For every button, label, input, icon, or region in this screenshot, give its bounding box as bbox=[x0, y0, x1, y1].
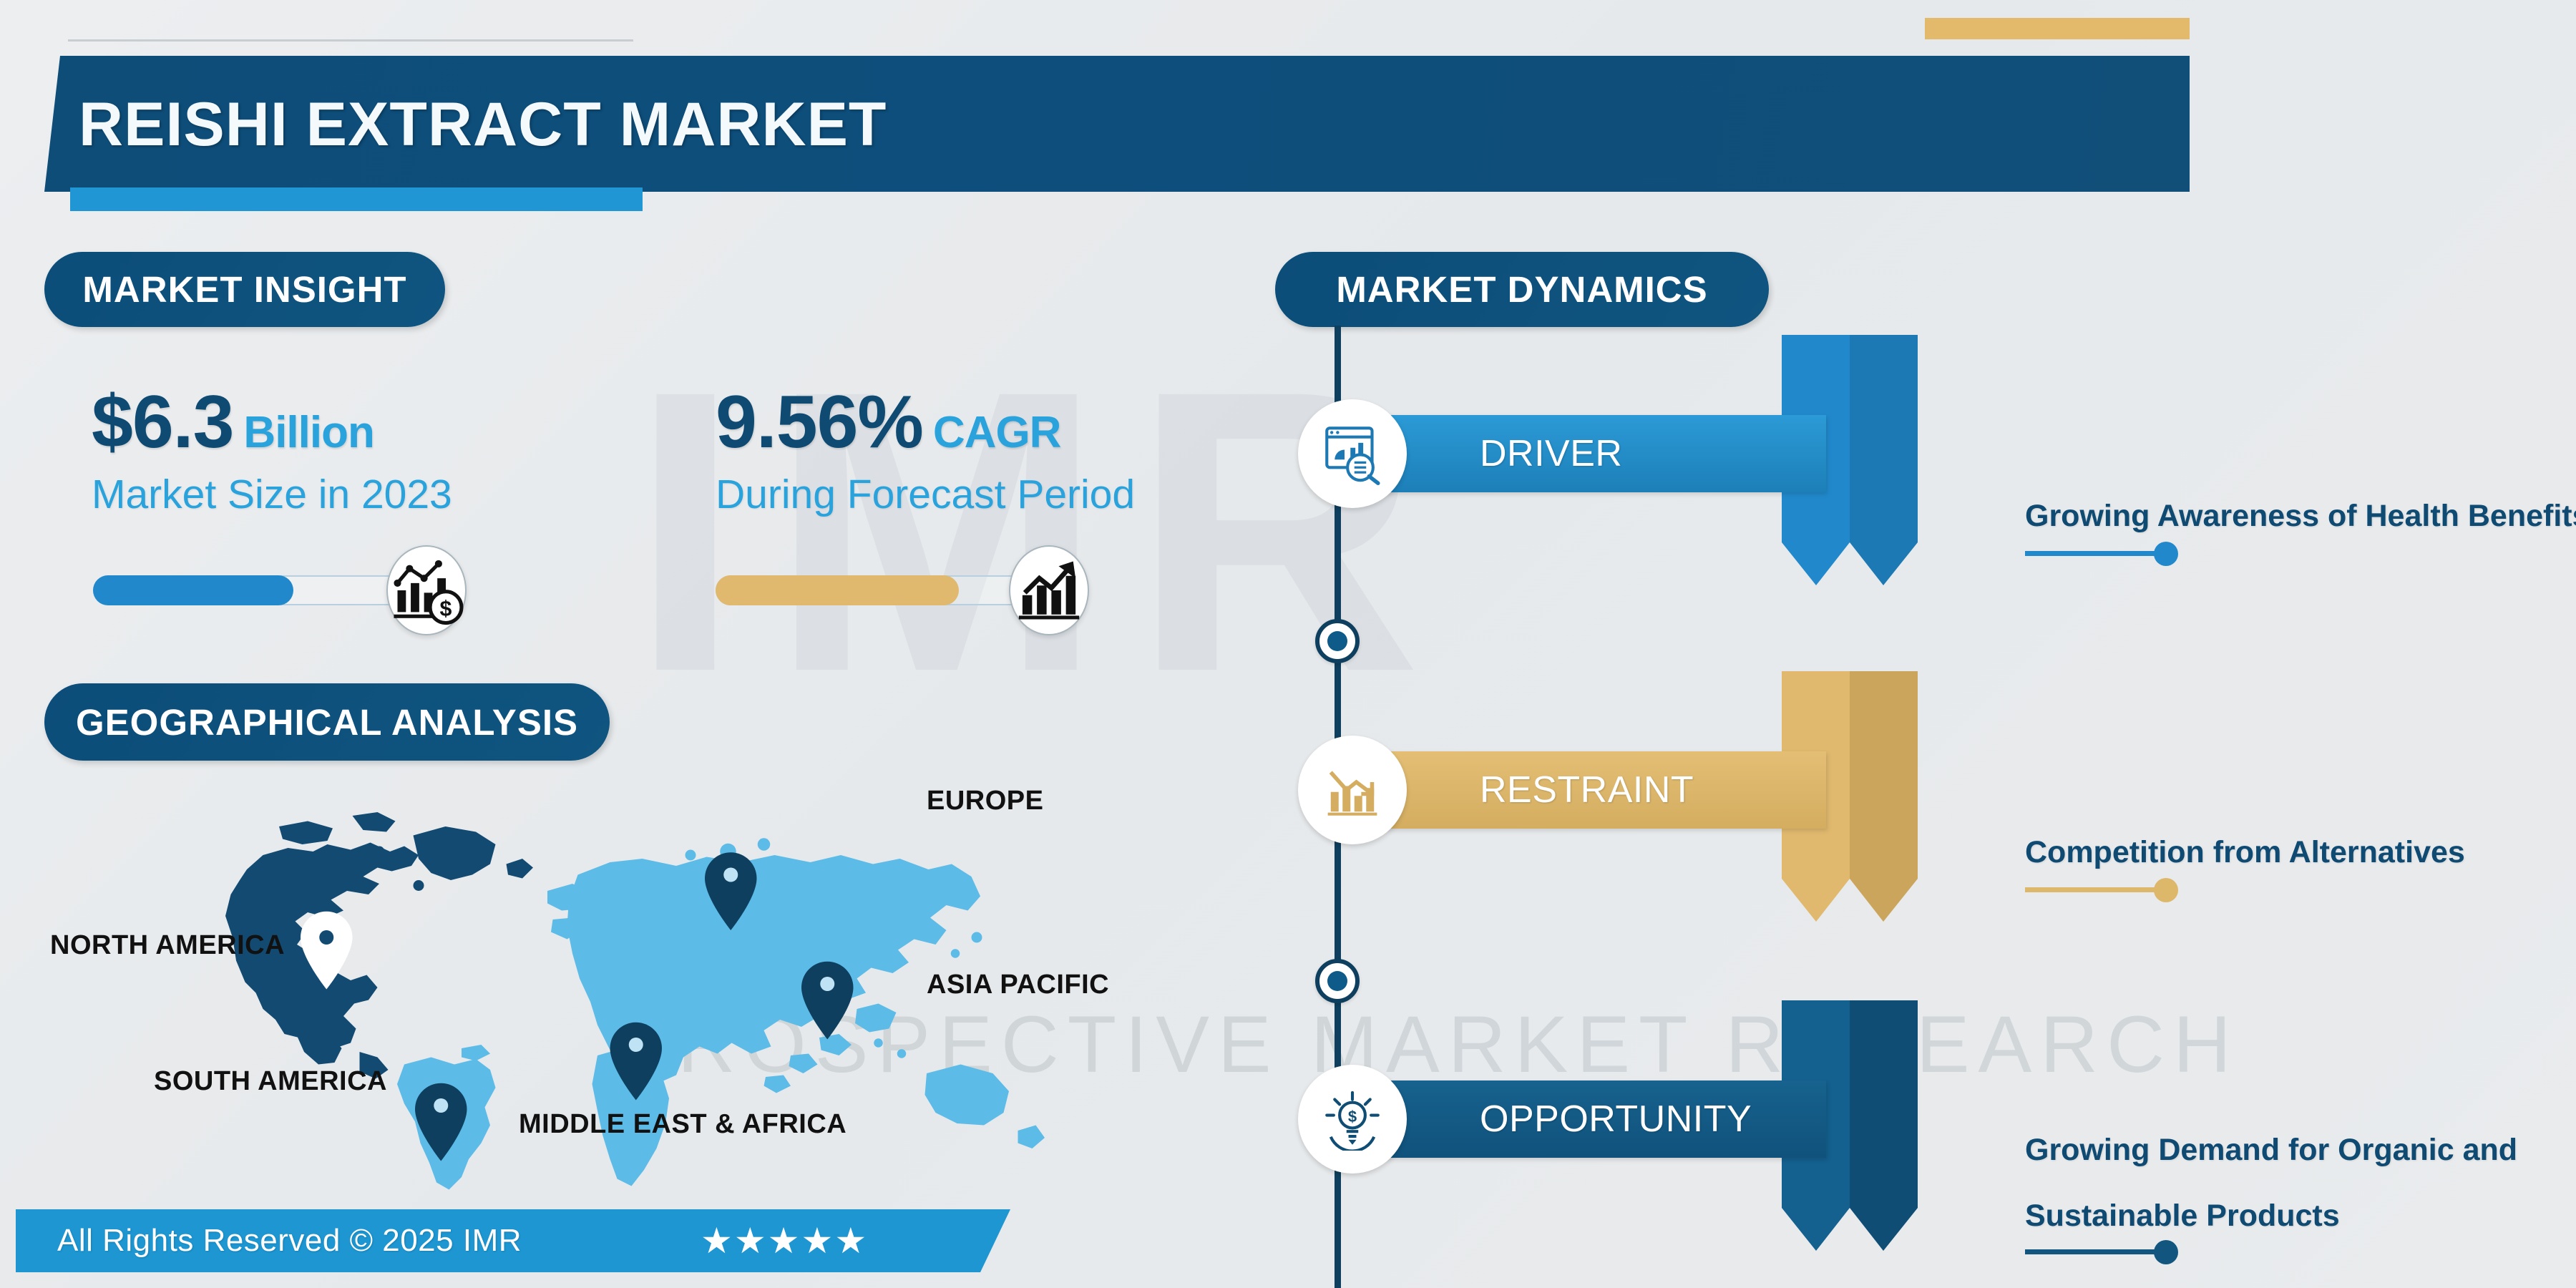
map-pin-asia-pacific bbox=[801, 962, 854, 1040]
infographic-canvas: IMR PROSPECTIVE MARKET RESEARCH REISHI E… bbox=[0, 0, 2576, 1288]
map-label-south-america: SOUTH AMERICA bbox=[154, 1066, 387, 1097]
restraint-label: RESTRAINT bbox=[1480, 769, 1694, 811]
kpi-market-size-value-row: $6.3Billion bbox=[92, 385, 452, 459]
header-gold-accent bbox=[1925, 18, 2190, 39]
page-title: REISHI EXTRACT MARKET bbox=[79, 89, 887, 160]
footer-rating-stars: ★★★★★ bbox=[701, 1220, 868, 1262]
opportunity-bar: OPPORTUNITY bbox=[1340, 1080, 1826, 1158]
declining-chart-icon bbox=[1298, 736, 1407, 844]
kpi-cagr-caption: During Forecast Period bbox=[716, 471, 1135, 518]
kpi-cagr-value: 9.56% bbox=[716, 381, 923, 464]
restraint-connector-dot bbox=[2154, 878, 2178, 902]
opportunity-description-line2: Sustainable Products bbox=[2025, 1195, 2340, 1236]
footer-bar: All Rights Reserved © 2025 IMR ★★★★★ bbox=[16, 1209, 1010, 1272]
timeline-node-1 bbox=[1315, 619, 1360, 663]
map-label-asia-pacific: ASIA PACIFIC bbox=[927, 970, 1109, 1000]
driver-bar: DRIVER bbox=[1340, 415, 1826, 492]
driver-connector-dot bbox=[2154, 542, 2178, 566]
map-label-europe: EUROPE bbox=[927, 786, 1043, 816]
cagr-progress bbox=[716, 565, 1116, 615]
map-label-middle-east-africa: MIDDLE EAST & AFRICA bbox=[519, 1109, 847, 1140]
kpi-market-size: $6.3Billion Market Size in 2023 bbox=[92, 385, 452, 518]
market-dynamics-badge: MARKET DYNAMICS bbox=[1275, 252, 1769, 327]
market-size-progress-fill bbox=[93, 575, 293, 605]
driver-description: Growing Awareness of Health Benefits bbox=[2025, 495, 2576, 537]
header-underbar-accent bbox=[70, 187, 643, 211]
header-thin-line bbox=[68, 39, 633, 42]
opportunity-label: OPPORTUNITY bbox=[1480, 1098, 1752, 1141]
market-insight-badge: MARKET INSIGHT bbox=[44, 252, 445, 327]
watermark-logo-letters: IMR bbox=[630, 301, 1450, 761]
restraint-description: Competition from Alternatives bbox=[2025, 831, 2465, 873]
kpi-market-size-unit: Billion bbox=[243, 408, 374, 457]
kpi-cagr: 9.56%CAGR During Forecast Period bbox=[716, 385, 1135, 518]
driver-connector-line bbox=[2025, 551, 2168, 556]
market-size-progress: $ bbox=[93, 565, 494, 615]
opportunity-connector-line bbox=[2025, 1249, 2168, 1254]
kpi-market-size-value: $6.3 bbox=[92, 381, 233, 464]
restraint-bar: RESTRAINT bbox=[1340, 751, 1826, 829]
cagr-progress-fill bbox=[716, 575, 959, 605]
analytics-search-icon bbox=[1298, 399, 1407, 508]
opportunity-connector-dot bbox=[2154, 1240, 2178, 1264]
map-label-north-america: NORTH AMERICA bbox=[50, 930, 285, 961]
driver-label: DRIVER bbox=[1480, 432, 1622, 475]
growth-arrow-icon bbox=[1009, 545, 1089, 635]
lightbulb-dollar-icon: $ bbox=[1298, 1065, 1407, 1174]
svg-text:$: $ bbox=[440, 597, 452, 620]
opportunity-description-line1: Growing Demand for Organic and bbox=[2025, 1129, 2517, 1171]
svg-text:$: $ bbox=[1348, 1108, 1357, 1126]
bar-chart-dollar-icon: $ bbox=[386, 545, 467, 635]
market-insight-badge-label: MARKET INSIGHT bbox=[82, 268, 406, 311]
geographical-analysis-badge-label: GEOGRAPHICAL ANALYSIS bbox=[76, 701, 578, 743]
kpi-market-size-caption: Market Size in 2023 bbox=[92, 471, 452, 518]
kpi-cagr-unit: CAGR bbox=[933, 408, 1061, 457]
footer-copyright: All Rights Reserved © 2025 IMR bbox=[57, 1223, 522, 1259]
timeline-node-2 bbox=[1315, 959, 1360, 1003]
kpi-cagr-value-row: 9.56%CAGR bbox=[716, 385, 1135, 459]
market-dynamics-badge-label: MARKET DYNAMICS bbox=[1336, 268, 1707, 311]
restraint-connector-line bbox=[2025, 887, 2168, 892]
geographical-analysis-badge: GEOGRAPHICAL ANALYSIS bbox=[44, 683, 610, 761]
